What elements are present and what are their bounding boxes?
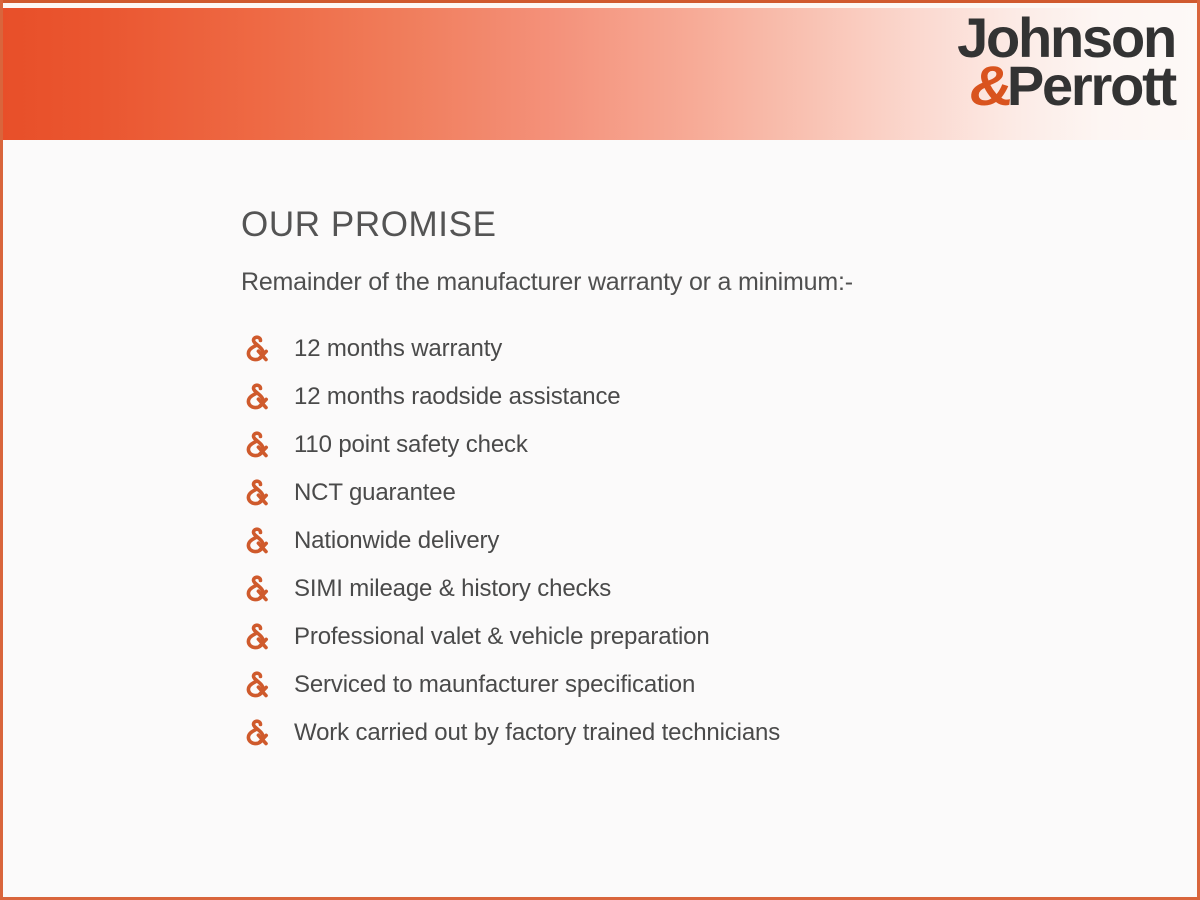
list-item: 12 months warranty	[241, 325, 1137, 373]
list-item-label: 12 months warranty	[294, 337, 502, 361]
list-item: 110 point safety check	[241, 421, 1137, 469]
ampersand-bullet-icon	[241, 574, 271, 604]
promise-content: OUR PROMISE Remainder of the manufacture…	[241, 205, 1137, 757]
ampersand-bullet-icon	[241, 670, 271, 700]
list-item-label: Work carried out by factory trained tech…	[294, 721, 780, 745]
promise-poster: Johnson &Perrott OUR PROMISE Remainder o…	[0, 0, 1200, 900]
ampersand-bullet-icon	[241, 334, 271, 364]
ampersand-bullet-icon	[241, 382, 271, 412]
list-item-label: Professional valet & vehicle preparation	[294, 625, 710, 649]
list-item-label: SIMI mileage & history checks	[294, 577, 611, 601]
list-item: Work carried out by factory trained tech…	[241, 709, 1137, 757]
list-item-label: NCT guarantee	[294, 481, 456, 505]
brand-logo: Johnson &Perrott	[957, 12, 1175, 111]
list-item: 12 months raodside assistance	[241, 373, 1137, 421]
page-subtitle: Remainder of the manufacturer warranty o…	[241, 267, 1137, 297]
list-item-label: Nationwide delivery	[294, 529, 499, 553]
ampersand-bullet-icon	[241, 430, 271, 460]
list-item-label: 110 point safety check	[294, 433, 528, 457]
list-item-label: 12 months raodside assistance	[294, 385, 621, 409]
list-item-label: Serviced to maunfacturer specification	[294, 673, 695, 697]
promise-list: 12 months warranty 12 months raodside as…	[241, 325, 1137, 757]
ampersand-bullet-icon	[241, 526, 271, 556]
ampersand-bullet-icon	[241, 718, 271, 748]
ampersand-bullet-icon	[241, 478, 271, 508]
list-item: Professional valet & vehicle preparation	[241, 613, 1137, 661]
page-title: OUR PROMISE	[241, 205, 1137, 245]
logo-line-perrott: &Perrott	[957, 60, 1175, 112]
logo-perrott-text: Perrott	[1007, 54, 1175, 117]
ampersand-bullet-icon	[241, 622, 271, 652]
list-item: NCT guarantee	[241, 469, 1137, 517]
logo-ampersand-icon: &	[966, 60, 1013, 112]
list-item: SIMI mileage & history checks	[241, 565, 1137, 613]
list-item: Serviced to maunfacturer specification	[241, 661, 1137, 709]
list-item: Nationwide delivery	[241, 517, 1137, 565]
